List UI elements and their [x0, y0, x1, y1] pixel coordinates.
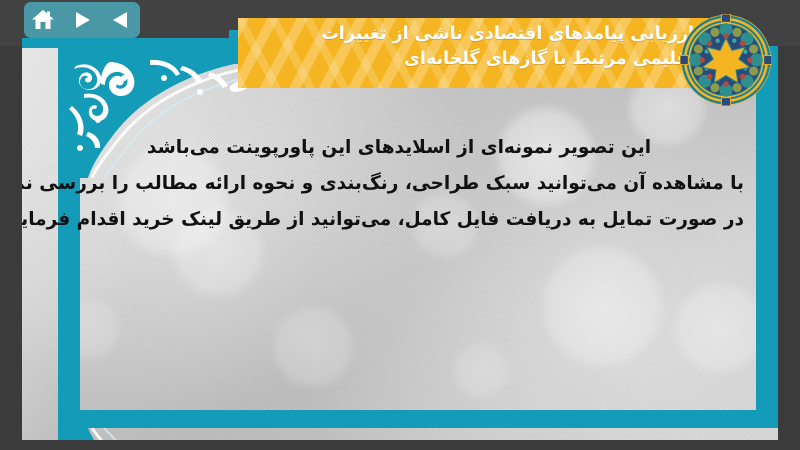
title-line: اقلیمی مرتبط با گازهای گلخانه‌ای	[256, 47, 694, 72]
home-button[interactable]	[28, 7, 58, 33]
next-button[interactable]	[67, 7, 97, 33]
previous-button[interactable]	[106, 7, 136, 33]
teal-accent-bar	[22, 38, 262, 48]
bokeh-circle	[672, 280, 768, 376]
slide-body-text: این تصویر نمونه‌ای از اسلایدهای این پاور…	[54, 130, 744, 238]
bokeh-circle	[538, 242, 666, 370]
frame-band-bottom	[58, 410, 778, 428]
body-line: با مشاهده آن می‌توانید سبک طراحی، رنگ‌بن…	[54, 166, 744, 202]
body-line: این تصویر نمونه‌ای از اسلایدهای این پاور…	[54, 130, 744, 166]
slide-title-banner: ارزیابی پیامدهای اقتصادی ناشی از تغییرات…	[238, 18, 708, 88]
bokeh-circle	[270, 304, 356, 390]
body-line: در صورت تمایل به دریافت فایل کامل، می‌تو…	[54, 202, 744, 238]
slide-title: ارزیابی پیامدهای اقتصادی ناشی از تغییرات…	[256, 22, 694, 72]
title-line: ارزیابی پیامدهای اقتصادی ناشی از تغییرات	[256, 22, 694, 47]
bokeh-circle	[452, 342, 510, 400]
slide-viewer-root: این تصویر نمونه‌ای از اسلایدهای این پاور…	[0, 0, 800, 450]
slide-navigation	[24, 2, 140, 38]
persian-medallion-ornament	[680, 14, 772, 106]
home-icon	[31, 9, 55, 31]
banner-teal-tab	[229, 30, 238, 64]
previous-triangle-icon	[110, 10, 132, 30]
next-triangle-icon	[71, 10, 93, 30]
